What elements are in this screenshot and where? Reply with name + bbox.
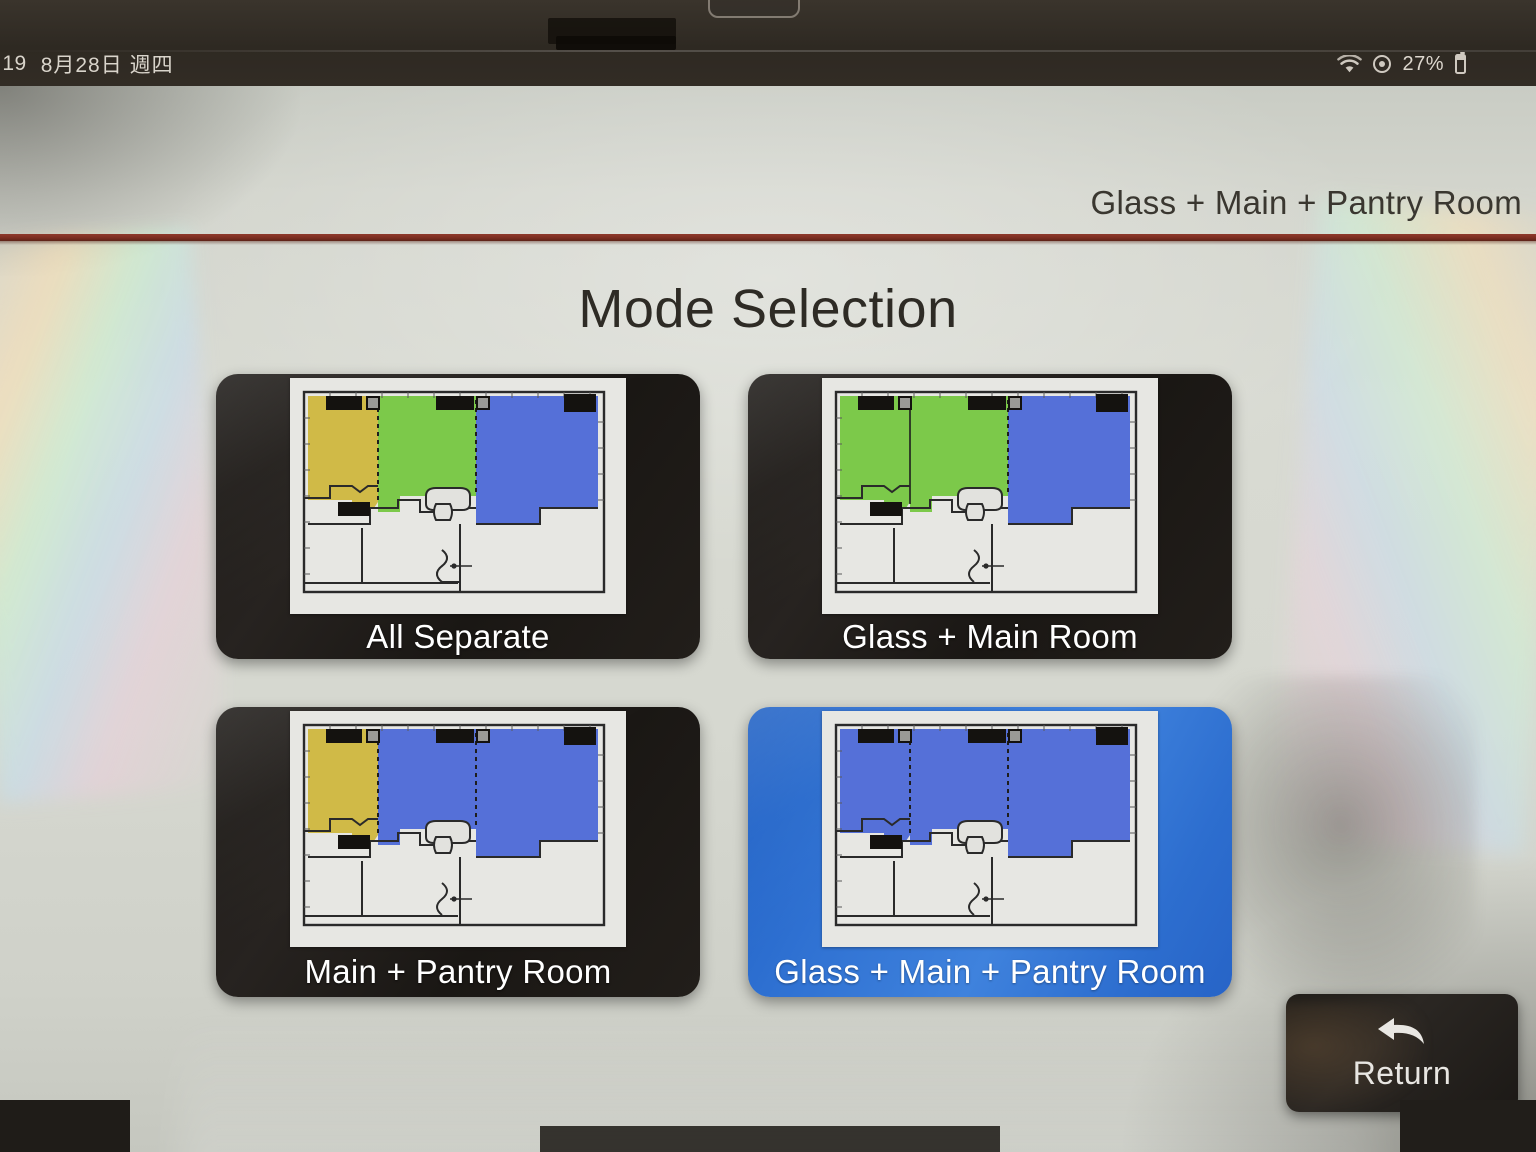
header-bar: Glass + Main + Pantry Room [0, 86, 1536, 238]
floor-plan-thumbnail [822, 378, 1158, 614]
return-button[interactable]: Return [1286, 994, 1518, 1112]
current-mode-label: Glass + Main + Pantry Room [1091, 184, 1522, 222]
status-time: :19 [0, 52, 27, 76]
return-label: Return [1353, 1055, 1451, 1092]
status-bar-right: 27% [1337, 53, 1466, 76]
zone-glass [1008, 729, 1130, 857]
floor-plan-svg [290, 711, 626, 947]
zone-glass [476, 729, 598, 857]
floor-plan-svg [290, 378, 626, 614]
mode-card-label: All Separate [216, 614, 700, 659]
zone-glass [476, 396, 598, 524]
fixture [858, 396, 894, 410]
back-arrow-icon [1374, 1014, 1430, 1053]
app-screen: Glass + Main + Pantry Room Mode Selectio… [0, 86, 1536, 1152]
header-divider-shadow [0, 241, 1536, 245]
floor-plan-svg [822, 378, 1158, 614]
device-edge-left [0, 1100, 130, 1152]
device-edge-right [1400, 1100, 1536, 1152]
device-edge-mid [540, 1126, 1000, 1152]
header-divider [0, 234, 1536, 241]
zone-glass [1008, 396, 1130, 524]
status-bar-left: :19 8月28日 週四 [0, 49, 174, 79]
mode-card-label: Main + Pantry Room [216, 947, 700, 997]
fixture [326, 729, 362, 743]
mode-card-label: Glass + Main + Pantry Room [748, 947, 1232, 997]
mode-card-glass-main[interactable]: Glass + Main Room [748, 374, 1232, 659]
status-bar: :19 8月28日 週四 27% [0, 42, 1536, 86]
floor-plan-svg [822, 711, 1158, 947]
mode-card-label: Glass + Main Room [748, 614, 1232, 659]
battery-percent-label: 27% [1402, 53, 1444, 76]
mode-card-glass-main-pantry[interactable]: Glass + Main + Pantry Room [748, 707, 1232, 997]
floor-plan-thumbnail [290, 378, 626, 614]
floor-plan-thumbnail [290, 711, 626, 947]
fixture [326, 396, 362, 410]
status-date: 8月28日 週四 [41, 49, 174, 79]
floor-plan-thumbnail [822, 711, 1158, 947]
mode-card-all-separate[interactable]: All Separate [216, 374, 700, 659]
battery-icon [1455, 54, 1466, 74]
focus-mode-icon [1373, 55, 1391, 73]
bezel-camera-notch [708, 0, 800, 18]
mode-card-main-pantry[interactable]: Main + Pantry Room [216, 707, 700, 997]
page-title: Mode Selection [0, 278, 1536, 340]
mode-grid: All Separate [216, 374, 1232, 1006]
fixture [858, 729, 894, 743]
wifi-icon [1337, 55, 1362, 74]
